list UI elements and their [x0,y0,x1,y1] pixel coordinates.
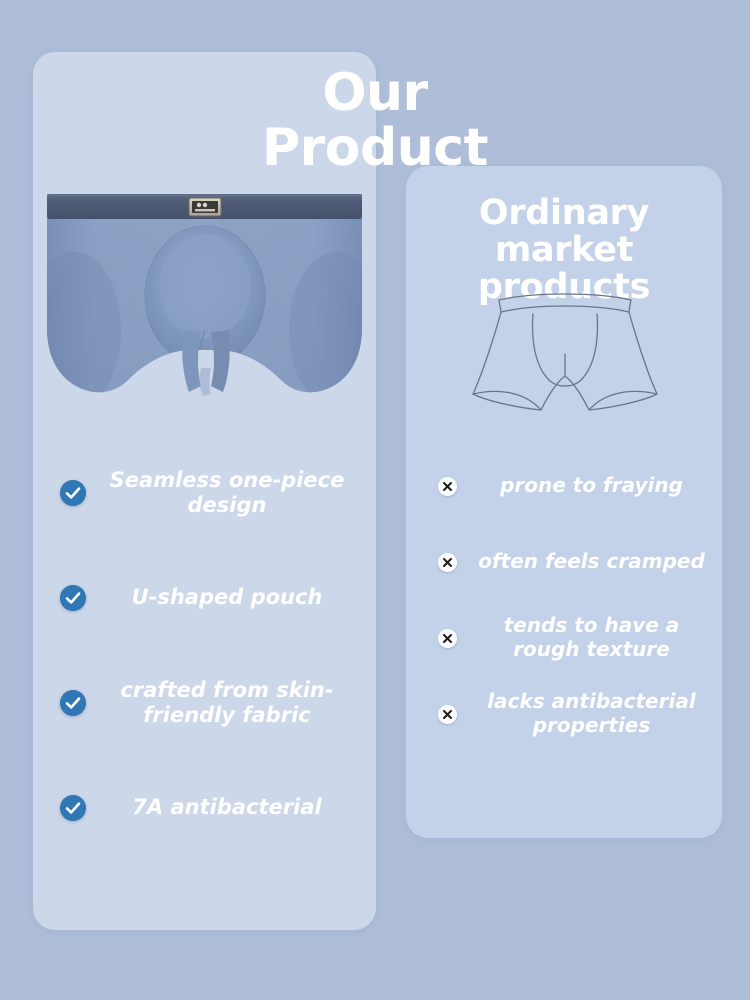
feature-label: prone to fraying [457,474,718,498]
feature-label: Seamless one-piece design [86,468,360,518]
list-item: lacks antibacterial properties [438,676,718,752]
feature-label: crafted from skin-friendly fabric [86,678,360,728]
check-icon [60,690,86,716]
ordinary-products-title-line1: Ordinary market [406,195,722,269]
our-product-title: Our Product [0,66,750,176]
list-item: crafted from skin-friendly fabric [60,650,360,755]
list-item: 7A antibacterial [60,755,360,860]
feature-label: tends to have a rough texture [457,614,718,661]
comparison-infographic: Our Product [0,0,750,1000]
ordinary-products-feature-list: prone to fraying often feels cramped ten… [438,448,718,752]
cross-icon [438,705,457,724]
our-product-photo [33,180,376,420]
ordinary-product-lineart [455,288,675,418]
feature-label: U-shaped pouch [86,585,360,610]
list-item: prone to fraying [438,448,718,524]
check-icon [60,480,86,506]
list-item: often feels cramped [438,524,718,600]
our-product-feature-list: Seamless one-piece design U-shaped pouch… [60,440,360,860]
feature-label: 7A antibacterial [86,795,360,820]
cross-icon [438,553,457,572]
list-item: U-shaped pouch [60,545,360,650]
brand-label-icon [189,198,221,216]
list-item: Seamless one-piece design [60,440,360,545]
feature-label: often feels cramped [457,550,718,574]
gusset-left [182,330,201,392]
our-product-title-line1: Our [0,66,750,121]
cross-icon [438,477,457,496]
check-icon [60,795,86,821]
feature-label: lacks antibacterial properties [457,690,718,737]
check-icon [60,585,86,611]
gusset-right [211,330,230,392]
cross-icon [438,629,457,648]
list-item: tends to have a rough texture [438,600,718,676]
